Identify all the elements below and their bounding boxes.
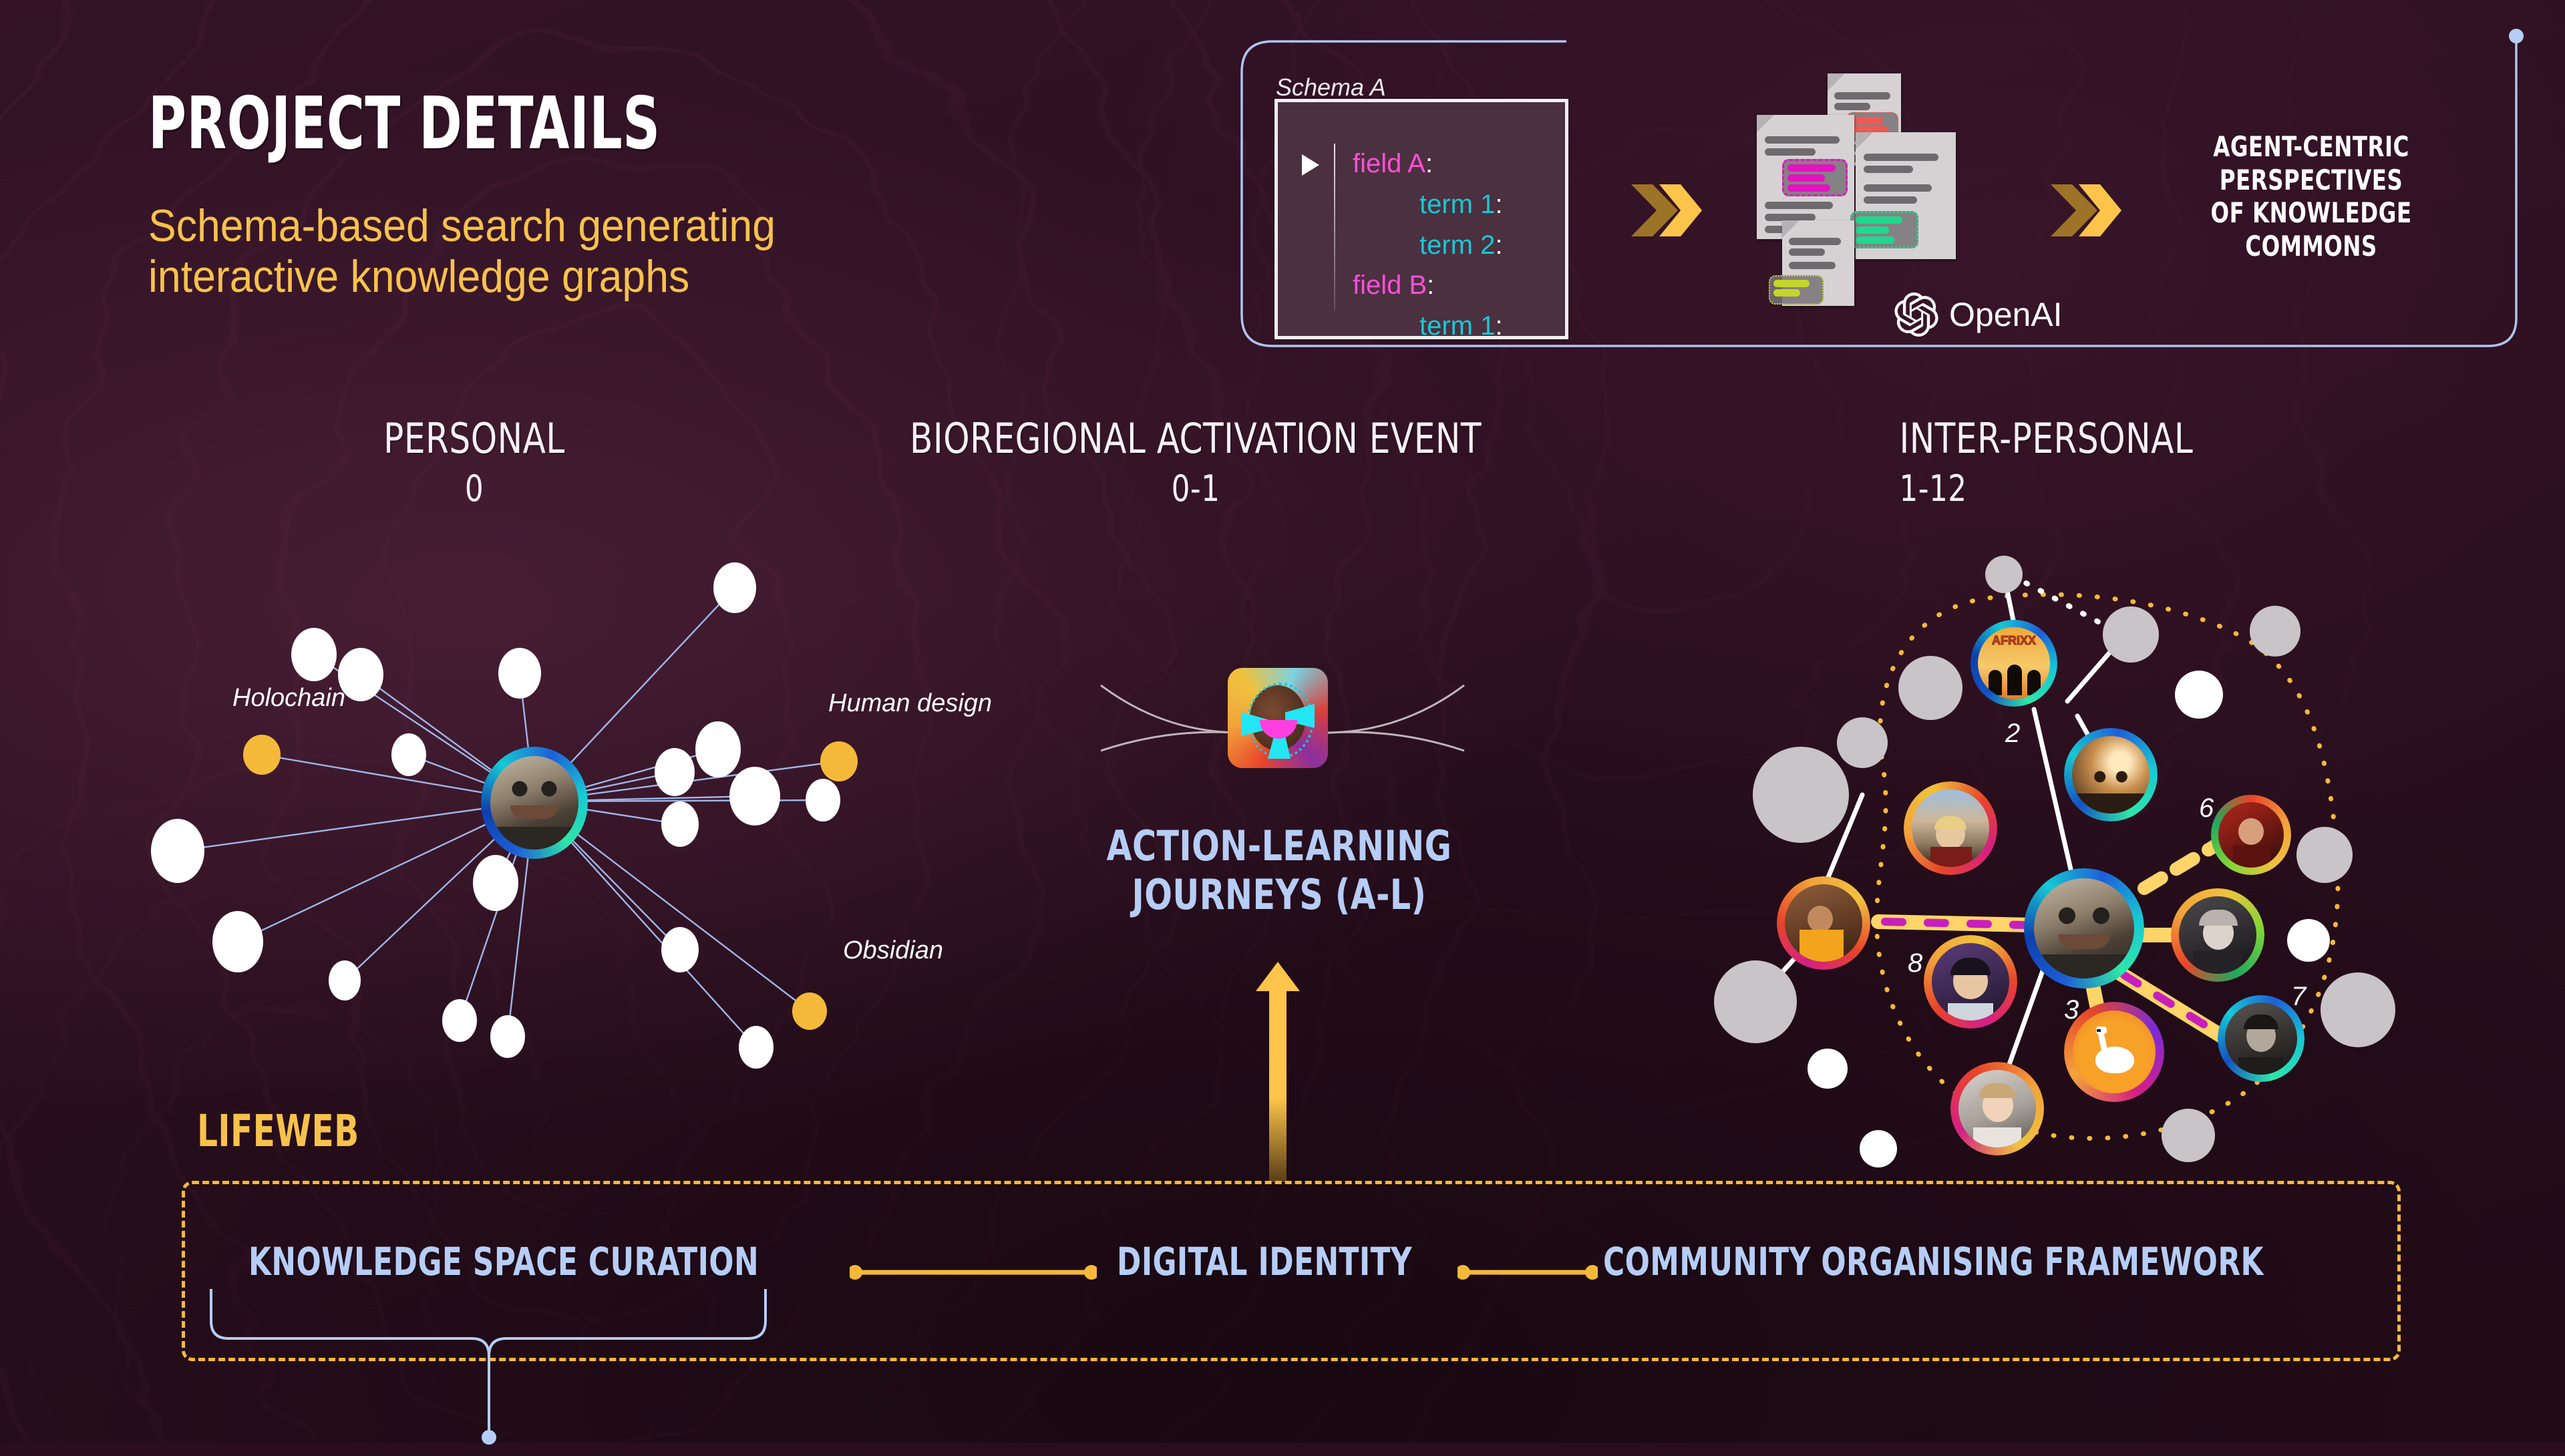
graph-label-holochain: Holochain [232,684,345,713]
action-learning-label: ACTION-LEARNING JOURNEYS (A-L) [1088,822,1470,919]
page-fold-icon [1856,132,1873,150]
page-subtitle-line-2: interactive knowledge graphs [148,251,776,302]
schema-line: term 1: [1353,184,1502,225]
personal-knowledge-graph[interactable]: Holochain Human design Obsidian [120,534,922,1069]
double-chevron-right-icon [1630,182,1703,239]
person-avatar-yellow-shirt[interactable] [1777,876,1870,970]
arrow-up-icon [1256,962,1300,1182]
document-highlight [1769,275,1824,305]
personal-center-avatar[interactable] [481,747,588,859]
schema-line: term 2: [1353,225,1502,266]
edge-number-6: 6 [2199,793,2214,824]
column-header-interpersonal: INTER-PERSONAL [1740,414,2565,463]
page-fold-icon [1828,73,1845,91]
column-header-bioregional: BIOREGIONAL ACTIVATION EVENT [847,414,1544,463]
lifeweb-connector-1 [850,1256,1097,1289]
bracket-terminus-dot [2509,29,2524,43]
interpersonal-knowledge-graph[interactable]: AFRIXX [1703,534,2411,1149]
document-highlight [1850,211,1918,248]
double-chevron-right-icon [2049,182,2123,239]
graph-label-obsidian: Obsidian [843,936,943,965]
schema-panel[interactable]: field A: term 1: term 2: field B: term 1… [1274,99,1568,339]
tag-node-human-design [820,741,858,781]
tag-node-obsidian [792,992,827,1030]
openai-logo [1894,293,1938,337]
action-learning-label-line-1: ACTION-LEARNING [1088,822,1470,870]
page-title: PROJECT DETAILS [148,88,661,160]
document-card [1782,220,1854,306]
column-count-bioregional: 0-1 [847,468,1544,510]
schema-lines: field A: term 1: term 2: field B: term 1… [1353,144,1502,347]
graph-edge-dashed-yellow [2144,840,2224,888]
schema-line: term 1: [1353,306,1502,347]
document-highlight [1782,159,1848,196]
person-avatar-child[interactable] [1924,935,2017,1029]
action-learning-tile[interactable] [1228,668,1328,768]
page-fold-icon [1782,220,1800,238]
column-header-personal: PERSONAL [306,414,643,463]
person-avatar-louvre[interactable] [1904,781,1997,875]
openai-wordmark: OpenAI [1949,295,2063,334]
page-subtitle-line-1: Schema-based search generating [148,200,776,251]
pipeline-outcome-text: AGENT-CENTRIC PERSPECTIVES OF KNOWLEDGE … [2199,130,2423,262]
edge-number-8: 8 [1908,948,1922,978]
edge-number-7: 7 [2291,982,2306,1012]
person-avatar-center[interactable] [2024,868,2144,988]
person-avatar-sunset[interactable] [2064,728,2158,822]
schema-line: field B: [1353,265,1502,306]
person-avatar-guitar[interactable] [2211,795,2291,875]
schema-label: Schema A [1276,73,1386,102]
page-subtitle: Schema-based search generating interacti… [148,200,776,302]
lifeweb-connector-2 [1458,1256,1598,1289]
edge-number-2: 2 [2005,719,2020,749]
graph-idle-nodes [1714,556,2395,1167]
graph-label-human-design: Human design [828,689,992,718]
edge-number-3: 3 [2064,995,2079,1025]
triangle-right-icon[interactable] [1302,154,1319,176]
page-fold-icon [1757,115,1774,132]
lifeweb-label: LIFEWEB [197,1105,359,1157]
schema-line: field A: [1353,144,1502,184]
lifeweb-item-community-organising-framework[interactable]: COMMUNITY ORGANISING FRAMEWORK [1603,1239,2264,1284]
lifeweb-item-digital-identity[interactable]: DIGITAL IDENTITY [1117,1239,1412,1284]
column-count-personal: 0 [306,468,643,510]
afrixx-avatar[interactable]: AFRIXX [1971,620,2057,707]
action-learning-label-line-2: JOURNEYS (A-L) [1088,870,1470,919]
person-avatar-pink[interactable] [1950,1062,2044,1155]
openai-brand: OpenAI [1894,293,2063,337]
tag-node-holochain [243,735,281,775]
lifeweb-item-knowledge-space-curation[interactable]: KNOWLEDGE SPACE CURATION [248,1239,759,1284]
schema-indent-rail [1334,144,1335,311]
document-card [1856,132,1956,259]
column-count-interpersonal: 1-12 [1740,468,2565,510]
swan-avatar[interactable] [2064,1002,2164,1102]
knowledge-space-brace [200,1282,842,1456]
person-avatar-scarf[interactable] [2171,888,2264,982]
